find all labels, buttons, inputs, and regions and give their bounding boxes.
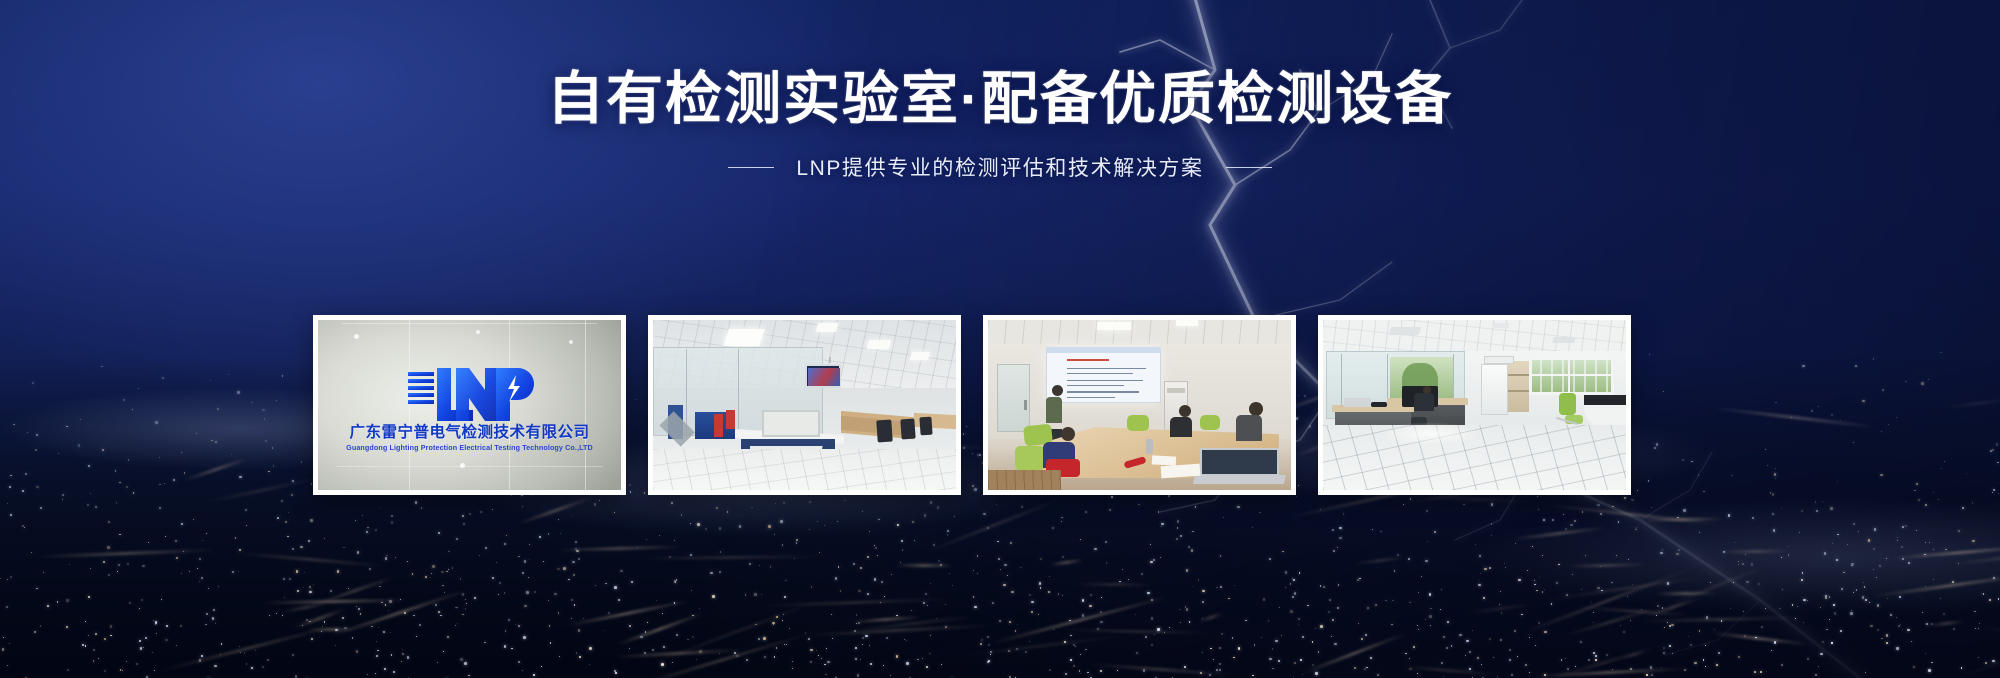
page-subtitle-row: LNP提供专业的检测评估和技术解决方案 (728, 152, 1271, 182)
photo-testing-laboratory (653, 320, 956, 490)
rule-left-icon (728, 167, 774, 168)
gallery-item-testing-laboratory[interactable] (648, 315, 961, 495)
photo-office-area (1323, 320, 1626, 490)
hero-banner: 自有检测实验室·配备优质检测设备 LNP提供专业的检测评估和技术解决方案 (0, 0, 2000, 678)
gallery-strip: 广东雷宁普电气检测技术有限公司 Guangdong Lighting Prote… (313, 315, 1631, 495)
logo-wall-company-name-cn: 广东雷宁普电气检测技术有限公司 (349, 420, 589, 442)
page-title: 自有检测实验室·配备优质检测设备 (547, 68, 1453, 131)
gallery-item-training-meeting-room[interactable] (983, 315, 1296, 495)
photo-company-logo-wall: 广东雷宁普电气检测技术有限公司 Guangdong Lighting Prote… (318, 320, 621, 490)
gallery-item-office-area[interactable] (1318, 315, 1631, 495)
page-subtitle: LNP提供专业的检测评估和技术解决方案 (796, 152, 1203, 182)
headline-block: 自有检测实验室·配备优质检测设备 LNP提供专业的检测评估和技术解决方案 (0, 0, 2000, 250)
gallery-item-company-logo-wall[interactable]: 广东雷宁普电气检测技术有限公司 Guangdong Lighting Prote… (313, 315, 626, 495)
rule-right-icon (1226, 167, 1272, 168)
photo-training-meeting-room (988, 320, 1291, 490)
lnp-logo-icon (406, 366, 534, 422)
logo-wall-company-name-en: Guangdong Lighting Protection Electrical… (346, 443, 593, 452)
